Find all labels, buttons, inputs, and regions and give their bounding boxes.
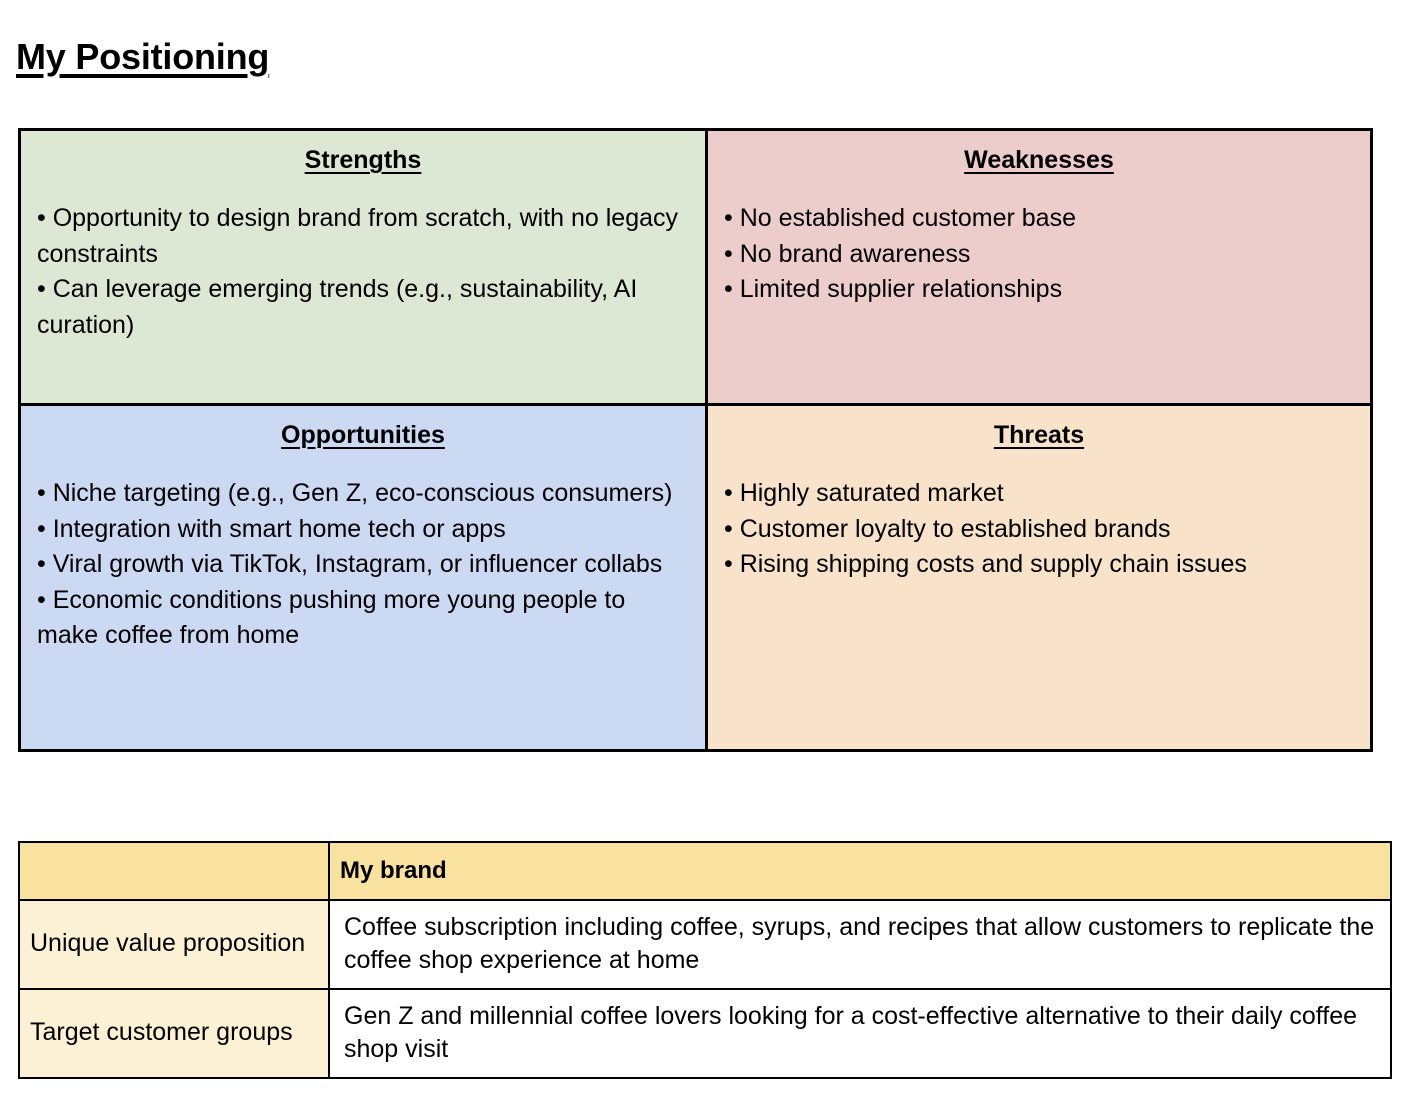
table-row: Unique value proposition Coffee subscrip… [19,900,1391,989]
swot-quadrant-threats: Threats Highly saturated market Customer… [705,403,1370,749]
table-row: Target customer groups Gen Z and millenn… [19,989,1391,1078]
swot-heading-opportunities: Opportunities [37,420,689,450]
list-item: Opportunity to design brand from scratch… [37,201,689,272]
row-label-unique-value-proposition: Unique value proposition [19,900,329,989]
list-item: Customer loyalty to established brands [724,512,1354,548]
swot-list-threats: Highly saturated market Customer loyalty… [724,476,1354,583]
swot-list-opportunities: Niche targeting (e.g., Gen Z, eco-consci… [37,476,689,654]
row-value-target-customer-groups: Gen Z and millennial coffee lovers looki… [329,989,1391,1078]
list-item: Highly saturated market [724,476,1354,512]
swot-matrix: Strengths Opportunity to design brand fr… [18,128,1373,752]
positioning-page: My Positioning Strengths Opportunity to … [0,0,1412,1118]
swot-quadrant-weaknesses: Weaknesses No established customer base … [705,131,1370,403]
list-item: Viral growth via TikTok, Instagram, or i… [37,547,689,583]
table-header-row: My brand [19,842,1391,900]
list-item: Rising shipping costs and supply chain i… [724,547,1354,583]
table-header-my-brand: My brand [329,842,1391,900]
swot-heading-weaknesses: Weaknesses [724,145,1354,175]
list-item: Integration with smart home tech or apps [37,512,689,548]
row-value-unique-value-proposition: Coffee subscription including coffee, sy… [329,900,1391,989]
list-item: No established customer base [724,201,1354,237]
list-item: No brand awareness [724,237,1354,273]
swot-list-strengths: Opportunity to design brand from scratch… [37,201,689,343]
swot-heading-threats: Threats [724,420,1354,450]
table-header-blank [19,842,329,900]
swot-list-weaknesses: No established customer base No brand aw… [724,201,1354,308]
list-item: Can leverage emerging trends (e.g., sust… [37,272,689,343]
page-title: My Positioning [16,36,269,77]
brand-positioning-table: My brand Unique value proposition Coffee… [18,841,1392,1079]
row-label-target-customer-groups: Target customer groups [19,989,329,1078]
swot-heading-strengths: Strengths [37,145,689,175]
list-item: Niche targeting (e.g., Gen Z, eco-consci… [37,476,689,512]
swot-quadrant-opportunities: Opportunities Niche targeting (e.g., Gen… [21,403,705,749]
list-item: Limited supplier relationships [724,272,1354,308]
swot-quadrant-strengths: Strengths Opportunity to design brand fr… [21,131,705,403]
list-item: Economic conditions pushing more young p… [37,583,689,654]
